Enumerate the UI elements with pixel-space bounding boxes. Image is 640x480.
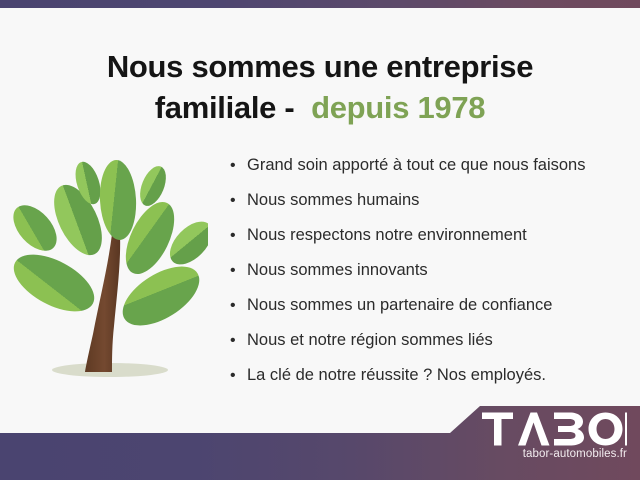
list-item-label: Nous sommes innovants bbox=[247, 261, 428, 279]
list-item: • Nous respectons notre environnement bbox=[228, 218, 632, 253]
bullet-icon: • bbox=[230, 218, 236, 253]
list-item: • Nous sommes innovants bbox=[228, 253, 632, 288]
list-item-label: La clé de notre réussite ? Nos employés. bbox=[247, 366, 546, 384]
headline-line-2-plain: familiale - bbox=[155, 90, 311, 125]
value-proposition-list: • Grand soin apporté à tout ce que nous … bbox=[228, 148, 632, 393]
top-accent-strip bbox=[0, 0, 640, 8]
slide-canvas: Nous sommes une entreprise familiale - d… bbox=[0, 0, 640, 480]
list-item: • Nous sommes un partenaire de confiance bbox=[228, 288, 632, 323]
leaf bbox=[98, 159, 138, 241]
family-tree-illustration bbox=[8, 148, 208, 388]
list-item-label: Nous sommes humains bbox=[247, 191, 419, 209]
bullet-icon: • bbox=[230, 323, 236, 358]
list-item: • Nous et notre région sommes liés bbox=[228, 323, 632, 358]
bullet-icon: • bbox=[230, 253, 236, 288]
list-item: • La clé de notre réussite ? Nos employé… bbox=[228, 358, 632, 393]
headline-line-1: Nous sommes une entreprise bbox=[0, 47, 640, 88]
page-title: Nous sommes une entreprise familiale - d… bbox=[0, 47, 640, 129]
leaf bbox=[113, 255, 208, 338]
bullet-icon: • bbox=[230, 358, 236, 393]
list-item-label: Nous respectons notre environnement bbox=[247, 226, 527, 244]
bullet-icon: • bbox=[230, 183, 236, 218]
list-item: • Nous sommes humains bbox=[228, 183, 632, 218]
bullet-icon: • bbox=[230, 148, 236, 183]
list-item-label: Nous sommes un partenaire de confiance bbox=[247, 296, 552, 314]
brand-url[interactable]: tabor-automobiles.fr bbox=[467, 448, 627, 460]
bullet-icon: • bbox=[230, 288, 236, 323]
list-item-label: Nous et notre région sommes liés bbox=[247, 331, 493, 349]
list-item: • Grand soin apporté à tout ce que nous … bbox=[228, 148, 632, 183]
tabor-wordmark-icon bbox=[482, 412, 627, 446]
brand-logo[interactable]: tabor-automobiles.fr bbox=[467, 412, 627, 460]
headline-accent-since-year: depuis 1978 bbox=[311, 90, 485, 125]
list-item-label: Grand soin apporté à tout ce que nous fa… bbox=[247, 156, 585, 174]
headline-line-2: familiale - depuis 1978 bbox=[0, 88, 640, 129]
